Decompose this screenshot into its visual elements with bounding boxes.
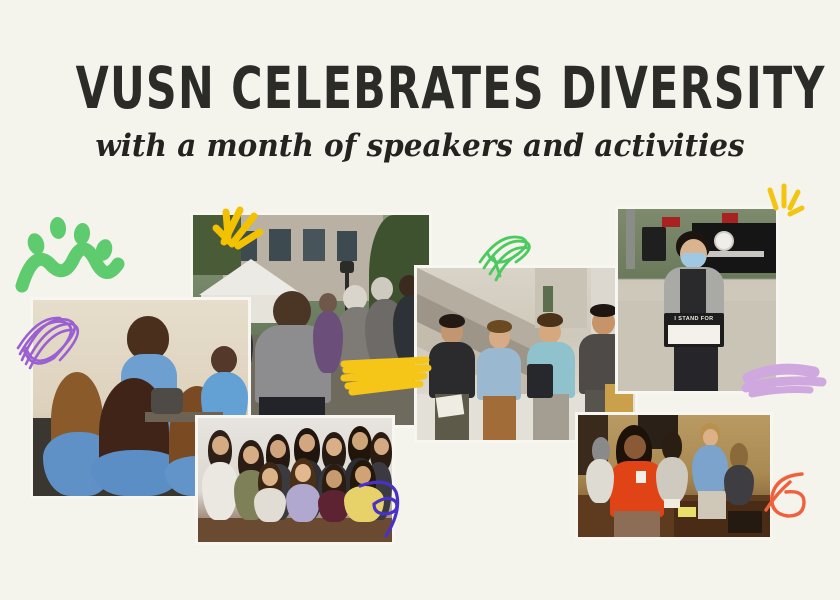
photo-i-stand-for: I STAND FOR: [618, 209, 776, 391]
stand-for-sign-text: I STAND FOR: [668, 314, 720, 324]
photo-event-reception: [578, 415, 770, 537]
poster-canvas: I STAND FOR: [0, 0, 840, 600]
page-title: VUSN CELEBRATES DIVERSITY: [76, 58, 765, 118]
photo-group-students: [198, 418, 392, 542]
page-subtitle: with a month of speakers and activities: [21, 128, 819, 164]
green-zigzag-with-dots-icon: [14, 200, 134, 310]
header-block: VUSN CELEBRATES DIVERSITY with a month o…: [0, 0, 840, 200]
